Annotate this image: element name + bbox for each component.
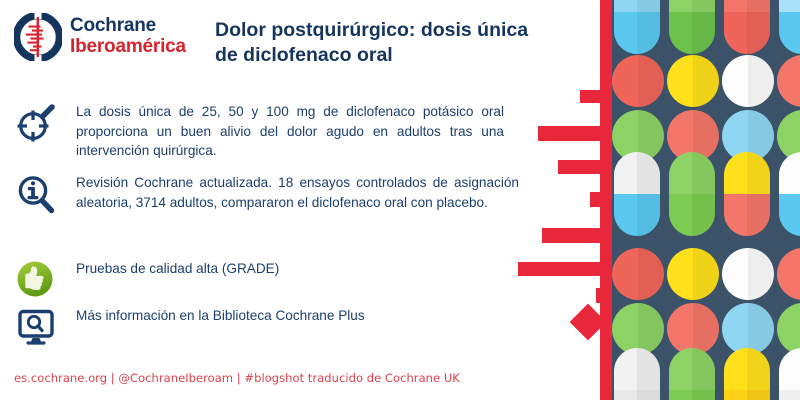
target-crosshair-icon <box>14 101 58 145</box>
monitor-search-icon <box>14 305 58 349</box>
pill-capsule <box>779 0 800 54</box>
forest-plot-bar <box>590 192 612 207</box>
cochrane-logo[interactable]: Cochrane Iberoamérica <box>14 13 204 61</box>
pill-capsule <box>724 152 770 236</box>
magnifier-info-icon <box>14 172 58 216</box>
footer-credits[interactable]: es.cochrane.org | @CochraneIberoam | #bl… <box>14 371 460 385</box>
pill-tablet <box>777 55 800 107</box>
cochrane-logo-wordmark: Cochrane Iberoamérica <box>70 16 186 57</box>
logo-brand-cochrane: Cochrane <box>70 16 186 36</box>
pill-tablet <box>722 55 774 107</box>
bullet-text-grade: Pruebas de calidad alta (GRADE) <box>76 259 406 279</box>
pill-capsule <box>669 348 715 400</box>
pill-tablet <box>722 248 774 300</box>
cochrane-forest-plot-logo-icon <box>14 13 62 61</box>
pill-capsule <box>724 0 770 54</box>
pill-pattern-panel <box>612 0 800 400</box>
forest-plot-bar <box>558 160 612 174</box>
pill-tablet <box>667 248 719 300</box>
thumbs-up-icon <box>14 258 58 302</box>
pill-capsule <box>779 152 800 236</box>
logo-brand-region: Iberoamérica <box>70 36 186 57</box>
forest-plot-bar <box>538 126 612 141</box>
pill-capsule <box>669 0 715 54</box>
pill-tablet <box>777 248 800 300</box>
forest-plot-bar <box>580 90 612 103</box>
bullet-text-review: Revisión Cochrane actualizada. 18 ensayo… <box>76 173 519 212</box>
forest-plot-bar <box>596 288 612 303</box>
bullet-text-dose: La dosis única de 25, 50 y 100 mg de dic… <box>76 102 504 161</box>
page-title: Dolor postquirúrgico: dosis única de dic… <box>215 18 545 68</box>
forest-plot-bar <box>518 262 612 276</box>
bullet-text-more-info: Más información en la Biblioteca Cochran… <box>76 306 471 326</box>
infographic-canvas: Cochrane Iberoamérica Dolor postquirúrgi… <box>0 0 800 400</box>
pill-capsule <box>669 152 715 236</box>
pill-capsule <box>779 348 800 400</box>
pill-tablet <box>667 55 719 107</box>
pill-capsule <box>724 348 770 400</box>
forest-plot-bar <box>542 228 612 243</box>
